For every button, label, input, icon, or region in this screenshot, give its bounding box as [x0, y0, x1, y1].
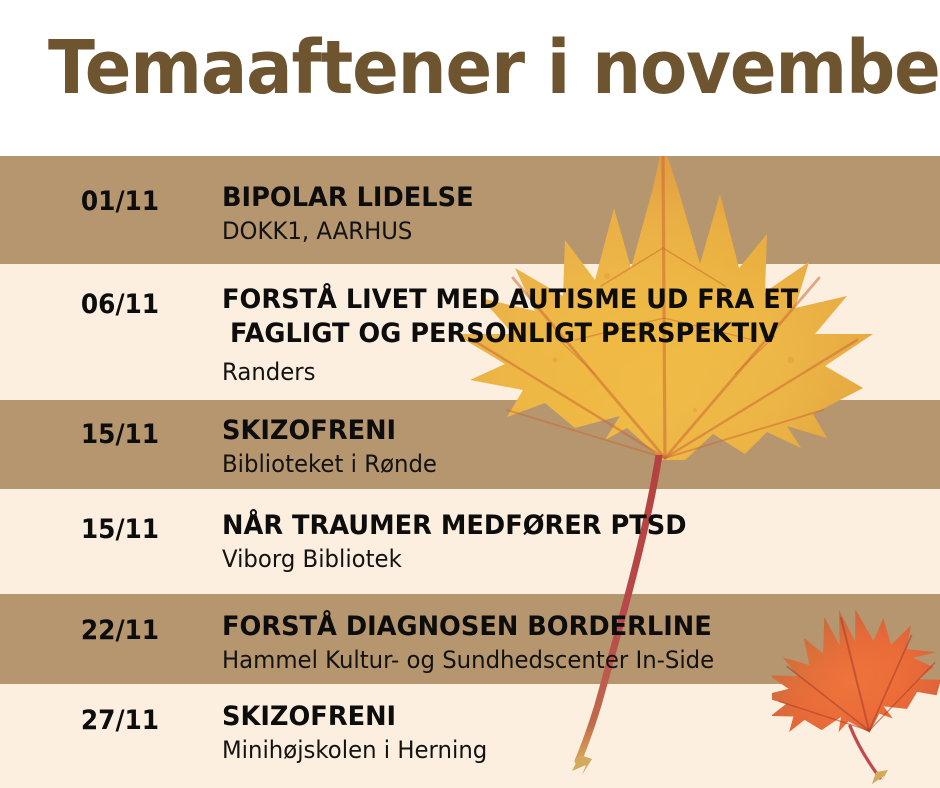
entry-title-line-1: SKIZOFRENI — [222, 700, 887, 734]
entry-date: 22/11 — [46, 615, 193, 647]
entry-body: FORSTÅ LIVET MED AUTISME UD FRA ET FAGLI… — [222, 283, 922, 387]
entry-title-line-2: FAGLIGT OG PERSONLIGT PERSPEKTIV — [230, 317, 887, 351]
entry-body: FORSTÅ DIAGNOSEN BORDERLINE Hammel Kultu… — [222, 610, 922, 675]
entry-date: 01/11 — [46, 186, 193, 218]
entry-title-line-1: FORSTÅ LIVET MED AUTISME UD FRA ET — [222, 283, 887, 317]
entry-body: NÅR TRAUMER MEDFØRER PTSD Viborg Bibliot… — [222, 509, 922, 574]
entry-venue: Hammel Kultur- og Sundhedscenter In-Side — [222, 645, 887, 675]
entry-venue: Minihøjskolen i Herning — [222, 735, 887, 765]
entry-body: BIPOLAR LIDELSE DOKK1, AARHUS — [222, 181, 922, 246]
schedule-entry[interactable]: 15/11 SKIZOFRENI Biblioteket i Rønde — [0, 400, 940, 489]
entry-venue: DOKK1, AARHUS — [222, 216, 887, 246]
entry-body: SKIZOFRENI Biblioteket i Rønde — [222, 414, 922, 479]
entry-title-line-1: SKIZOFRENI — [222, 414, 887, 448]
entry-venue: Biblioteket i Rønde — [222, 449, 887, 479]
entry-body: SKIZOFRENI Minihøjskolen i Herning — [222, 700, 922, 765]
entry-date: 06/11 — [46, 289, 193, 321]
schedule-entry[interactable]: 06/11 FORSTÅ LIVET MED AUTISME UD FRA ET… — [0, 264, 940, 400]
schedule-entry[interactable]: 22/11 FORSTÅ DIAGNOSEN BORDERLINE Hammel… — [0, 594, 940, 684]
entry-title-line-1: BIPOLAR LIDELSE — [222, 181, 887, 215]
schedule-entry[interactable]: 27/11 SKIZOFRENI Minihøjskolen i Herning — [0, 684, 940, 788]
entry-title-line-1: NÅR TRAUMER MEDFØRER PTSD — [222, 509, 887, 543]
schedule-entry[interactable]: 15/11 NÅR TRAUMER MEDFØRER PTSD Viborg B… — [0, 489, 940, 594]
schedule-entry[interactable]: 01/11 BIPOLAR LIDELSE DOKK1, AARHUS — [0, 156, 940, 264]
entry-venue: Viborg Bibliotek — [222, 544, 887, 574]
entry-title-line-1: FORSTÅ DIAGNOSEN BORDERLINE — [222, 610, 887, 644]
poster-canvas: Temaaftener i november 01/11 BIPOLAR LID… — [0, 0, 940, 788]
page-title: Temaaftener i november — [48, 26, 940, 110]
entry-date: 15/11 — [46, 419, 193, 451]
entry-venue: Randers — [222, 357, 887, 387]
entry-date: 27/11 — [46, 705, 193, 737]
entry-date: 15/11 — [46, 514, 193, 546]
poster-header: Temaaftener i november — [0, 0, 940, 156]
